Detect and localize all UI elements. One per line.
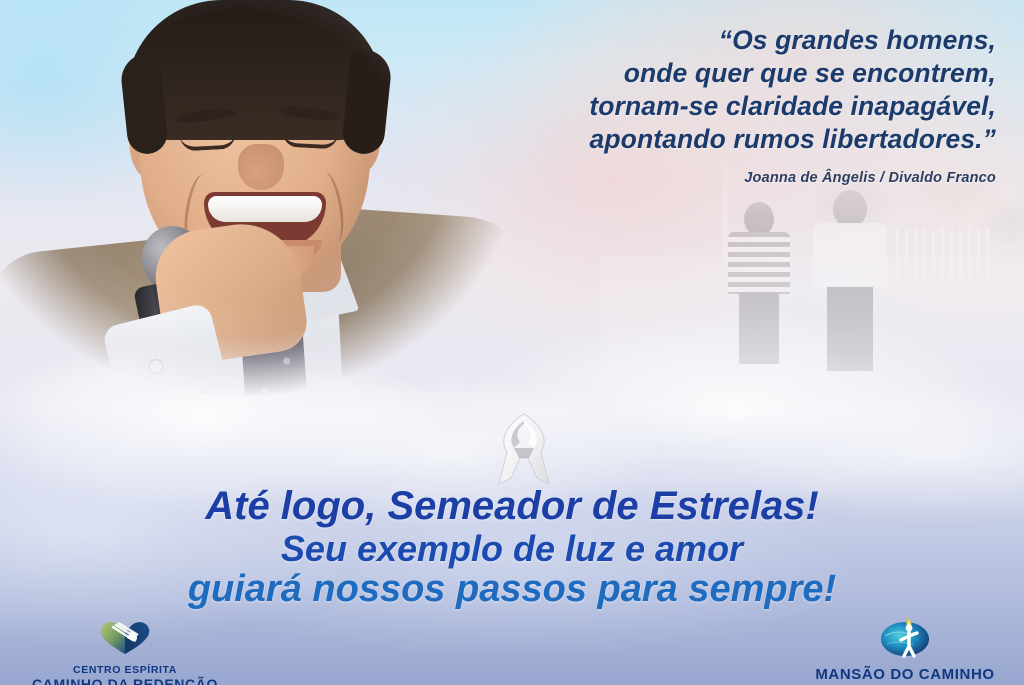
quote-line-4: apontando rumos libertadores.” — [430, 123, 996, 156]
globe-figure-flame-icon — [790, 614, 1020, 663]
logo-left-line-2: CAMINHO DA REDENÇÃO — [10, 676, 240, 685]
quote-line-2: onde quer que se encontrem, — [430, 57, 996, 90]
teeth — [208, 196, 322, 222]
logo-right-text: MANSÃO DO CAMINHO — [790, 666, 1020, 683]
heart-hands-icon — [10, 618, 240, 661]
child-striped-shirt — [728, 232, 790, 294]
nose — [238, 144, 284, 190]
child-legs — [739, 292, 779, 364]
adult-legs — [827, 287, 873, 371]
logo-left-text: CENTRO ESPÍRITA CAMINHO DA REDENÇÃO — [10, 664, 240, 685]
cuff-button — [149, 359, 164, 374]
logo-centro-espirita[interactable]: CENTRO ESPÍRITA CAMINHO DA REDENÇÃO — [10, 618, 240, 685]
adult-white-shirt — [813, 223, 887, 289]
logo-right-line-2: MANSÃO DO CAMINHO — [790, 666, 1020, 683]
headline-line-2: Seu exemplo de luz e amor — [0, 530, 1024, 567]
faded-walking-scene — [600, 150, 1024, 440]
headline-line-3: guiará nossos passos para sempre! — [0, 570, 1024, 609]
headline-line-1: Até logo, Semeador de Estrelas! — [0, 486, 1024, 527]
logo-left-line-1: CENTRO ESPÍRITA — [10, 664, 240, 676]
quote-line-3: tornam-se claridade inapagável, — [430, 90, 996, 123]
headline-block: Até logo, Semeador de Estrelas! Seu exem… — [0, 486, 1024, 609]
white-ribbon-icon — [487, 408, 561, 490]
logo-mansao-do-caminho[interactable]: MANSÃO DO CAMINHO — [790, 614, 1020, 683]
quote-line-1: “Os grandes homens, — [430, 24, 996, 57]
memorial-poster: “Os grandes homens, onde quer que se enc… — [0, 0, 1024, 685]
scene-fence — [896, 228, 992, 278]
child-head — [744, 202, 774, 236]
quote-block: “Os grandes homens, onde quer que se enc… — [430, 24, 996, 156]
scene-figure-adult — [812, 190, 888, 368]
quote-attribution: Joanna de Ângelis / Divaldo Franco — [430, 170, 996, 186]
scene-figure-child — [726, 202, 792, 362]
